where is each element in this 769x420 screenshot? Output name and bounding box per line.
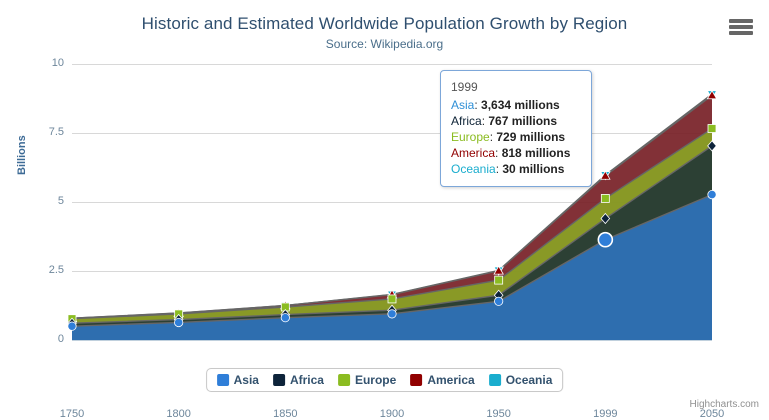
chart-subtitle: Source: Wikipedia.org	[0, 37, 769, 51]
legend-item-america[interactable]: America	[410, 373, 474, 387]
marker-europe[interactable]	[495, 276, 503, 284]
hamburger-bar-2	[729, 25, 753, 29]
tooltip-row: Asia: 3,634 millions	[451, 97, 581, 113]
y-axis-tick-label: 5	[14, 195, 64, 207]
tooltip: 1999 Asia: 3,634 millionsAfrica: 767 mil…	[440, 70, 592, 187]
x-axis-tick-label: 1900	[362, 408, 422, 420]
tooltip-series-value: 30 millions	[502, 162, 564, 176]
highcharts-container: Historic and Estimated Worldwide Populat…	[0, 0, 769, 416]
y-axis-tick-label: 2.5	[14, 264, 64, 276]
credits-link[interactable]: Highcharts.com	[690, 399, 759, 410]
tooltip-row: Europe: 729 millions	[451, 129, 581, 145]
legend-label: Europe	[355, 373, 396, 387]
x-axis-tick-label: 1750	[42, 408, 102, 420]
marker-europe[interactable]	[601, 194, 609, 202]
marker-asia[interactable]	[68, 322, 76, 330]
x-axis-tick-label: 1800	[149, 408, 209, 420]
marker-asia[interactable]	[388, 310, 396, 318]
tooltip-header: 1999	[451, 79, 581, 95]
y-axis-tick-label: 10	[14, 57, 64, 69]
tooltip-row: Oceania: 30 millions	[451, 161, 581, 177]
legend-swatch-icon	[489, 374, 501, 386]
tooltip-series-value: 767 millions	[488, 114, 557, 128]
marker-asia[interactable]	[708, 190, 716, 198]
legend-swatch-icon	[338, 374, 350, 386]
chart-title: Historic and Estimated Worldwide Populat…	[0, 14, 769, 34]
plot-area: 02.557.510 1750180018501900195019992050	[72, 64, 712, 340]
tooltip-series-value: 3,634 millions	[481, 98, 560, 112]
marker-asia[interactable]	[174, 318, 182, 326]
legend-swatch-icon	[217, 374, 229, 386]
tooltip-series-value: 818 millions	[502, 146, 571, 160]
tooltip-series-value: 729 millions	[496, 130, 565, 144]
legend-item-africa[interactable]: Africa	[273, 373, 324, 387]
legend-swatch-icon	[410, 374, 422, 386]
marker-europe[interactable]	[388, 295, 396, 303]
tooltip-rows: Asia: 3,634 millionsAfrica: 767 millions…	[451, 97, 581, 177]
marker-hover-asia[interactable]	[598, 233, 612, 247]
tooltip-separator: :	[495, 146, 502, 160]
y-axis-tick-label: 7.5	[14, 126, 64, 138]
tooltip-series-name: Asia	[451, 98, 474, 112]
x-axis-tick-label: 1950	[469, 408, 529, 420]
legend-label: Asia	[234, 373, 259, 387]
x-axis-tick-label: 1999	[575, 408, 635, 420]
y-axis-tick-label: 0	[14, 333, 64, 345]
x-axis-tick-label: 1850	[255, 408, 315, 420]
tooltip-series-name: Oceania	[451, 162, 496, 176]
tooltip-series-name: Europe	[451, 130, 490, 144]
marker-asia[interactable]	[281, 313, 289, 321]
legend-swatch-icon	[273, 374, 285, 386]
marker-europe[interactable]	[708, 125, 716, 133]
legend-item-europe[interactable]: Europe	[338, 373, 396, 387]
tooltip-row: Africa: 767 millions	[451, 113, 581, 129]
tooltip-separator: :	[474, 98, 481, 112]
hamburger-bar-1	[729, 19, 753, 23]
hamburger-menu-icon[interactable]	[729, 17, 753, 37]
legend-label: Oceania	[506, 373, 553, 387]
gridline	[72, 340, 712, 341]
legend-item-asia[interactable]: Asia	[217, 373, 259, 387]
series-group	[72, 64, 712, 340]
legend: AsiaAfricaEuropeAmericaOceania	[206, 368, 564, 392]
legend-label: America	[427, 373, 474, 387]
y-axis-title: Billions	[16, 135, 28, 175]
legend-item-oceania[interactable]: Oceania	[489, 373, 553, 387]
tooltip-series-name: Africa	[451, 114, 482, 128]
marker-asia[interactable]	[494, 297, 502, 305]
hamburger-bar-3	[729, 31, 753, 35]
tooltip-row: America: 818 millions	[451, 145, 581, 161]
tooltip-series-name: America	[451, 146, 495, 160]
legend-label: Africa	[290, 373, 324, 387]
